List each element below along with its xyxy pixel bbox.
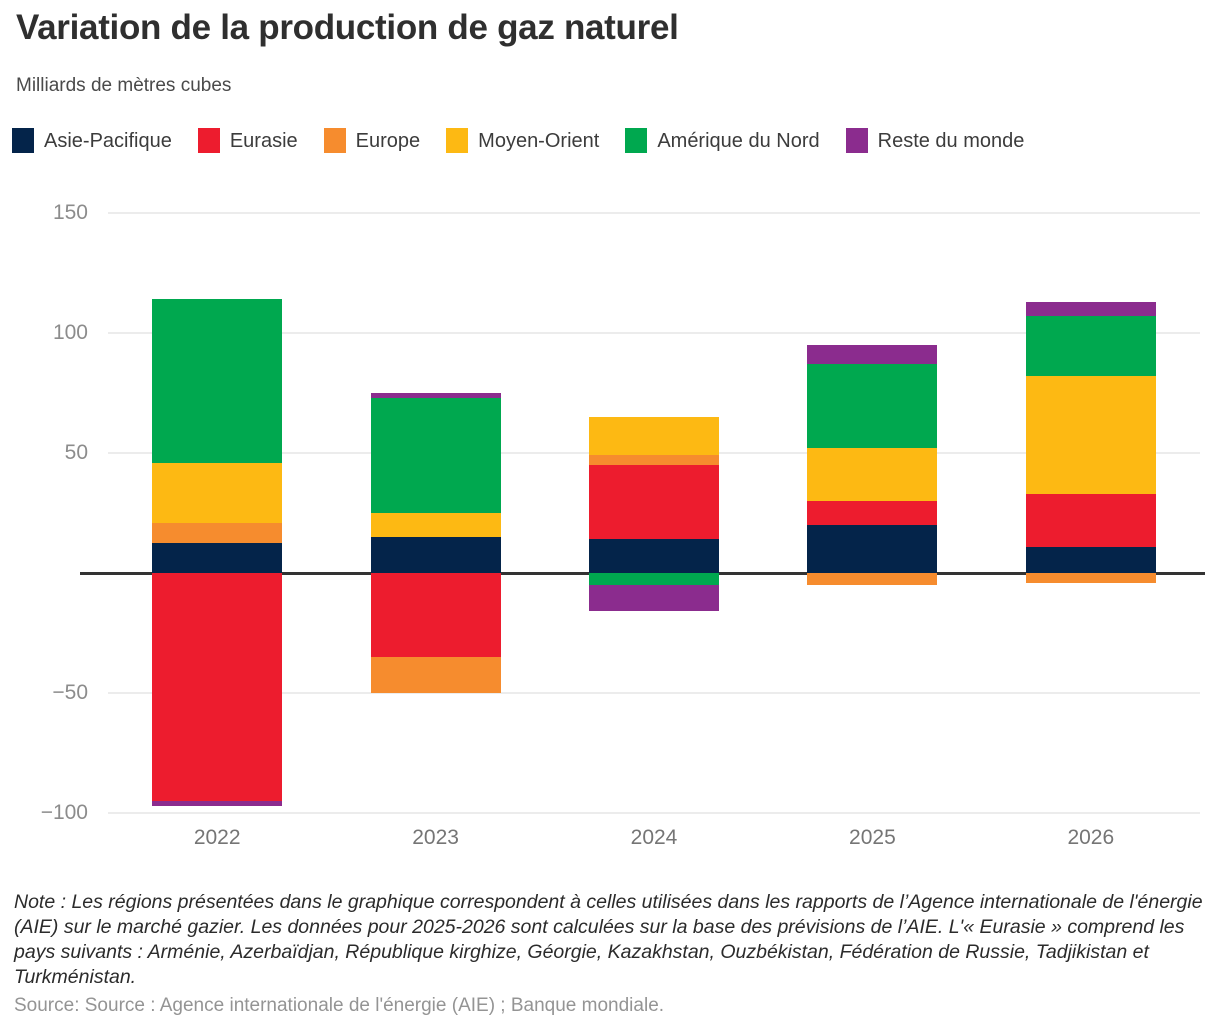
bar-segment[interactable]	[1026, 494, 1156, 547]
bar-segment[interactable]	[371, 657, 501, 693]
bar-segment[interactable]	[807, 525, 937, 573]
bars-layer: 20222023202420252026	[0, 0, 1220, 1034]
bar-segment[interactable]	[371, 393, 501, 398]
bar-group-2026[interactable]: 2026	[1026, 0, 1156, 1034]
bar-segment[interactable]	[807, 364, 937, 448]
bar-segment[interactable]	[807, 501, 937, 525]
x-axis-tick-label: 2026	[1026, 826, 1156, 850]
bar-segment[interactable]	[152, 573, 282, 801]
bar-segment[interactable]	[371, 398, 501, 513]
bar-group-2023[interactable]: 2023	[371, 0, 501, 1034]
bar-segment[interactable]	[1026, 573, 1156, 583]
bar-group-2022[interactable]: 2022	[152, 0, 282, 1034]
bar-segment[interactable]	[1026, 547, 1156, 573]
bar-segment[interactable]	[1026, 302, 1156, 316]
bar-segment[interactable]	[589, 465, 719, 539]
bar-segment[interactable]	[807, 448, 937, 501]
chart-source: Source: Source : Agence internationale d…	[14, 995, 664, 1017]
bar-segment[interactable]	[371, 537, 501, 573]
bar-segment[interactable]	[589, 585, 719, 611]
chart-note: Note : Les régions présentées dans le gr…	[14, 890, 1206, 990]
bar-segment[interactable]	[1026, 376, 1156, 494]
bar-segment[interactable]	[152, 543, 282, 573]
bar-segment[interactable]	[152, 463, 282, 523]
bar-segment[interactable]	[589, 455, 719, 465]
bar-segment[interactable]	[589, 417, 719, 455]
bar-segment[interactable]	[589, 573, 719, 585]
bar-segment[interactable]	[807, 345, 937, 364]
x-axis-tick-label: 2022	[152, 826, 282, 850]
bar-segment[interactable]	[371, 573, 501, 657]
x-axis-tick-label: 2025	[807, 826, 937, 850]
bar-group-2025[interactable]: 2025	[807, 0, 937, 1034]
x-axis-tick-label: 2024	[589, 826, 719, 850]
x-axis-tick-label: 2023	[371, 826, 501, 850]
bar-group-2024[interactable]: 2024	[589, 0, 719, 1034]
bar-segment[interactable]	[152, 801, 282, 806]
bar-segment[interactable]	[371, 513, 501, 537]
bar-segment[interactable]	[152, 299, 282, 462]
bar-segment[interactable]	[807, 573, 937, 585]
bar-segment[interactable]	[589, 539, 719, 573]
bar-segment[interactable]	[1026, 316, 1156, 376]
bar-segment[interactable]	[152, 523, 282, 543]
chart-page: Variation de la production de gaz nature…	[0, 0, 1220, 1034]
